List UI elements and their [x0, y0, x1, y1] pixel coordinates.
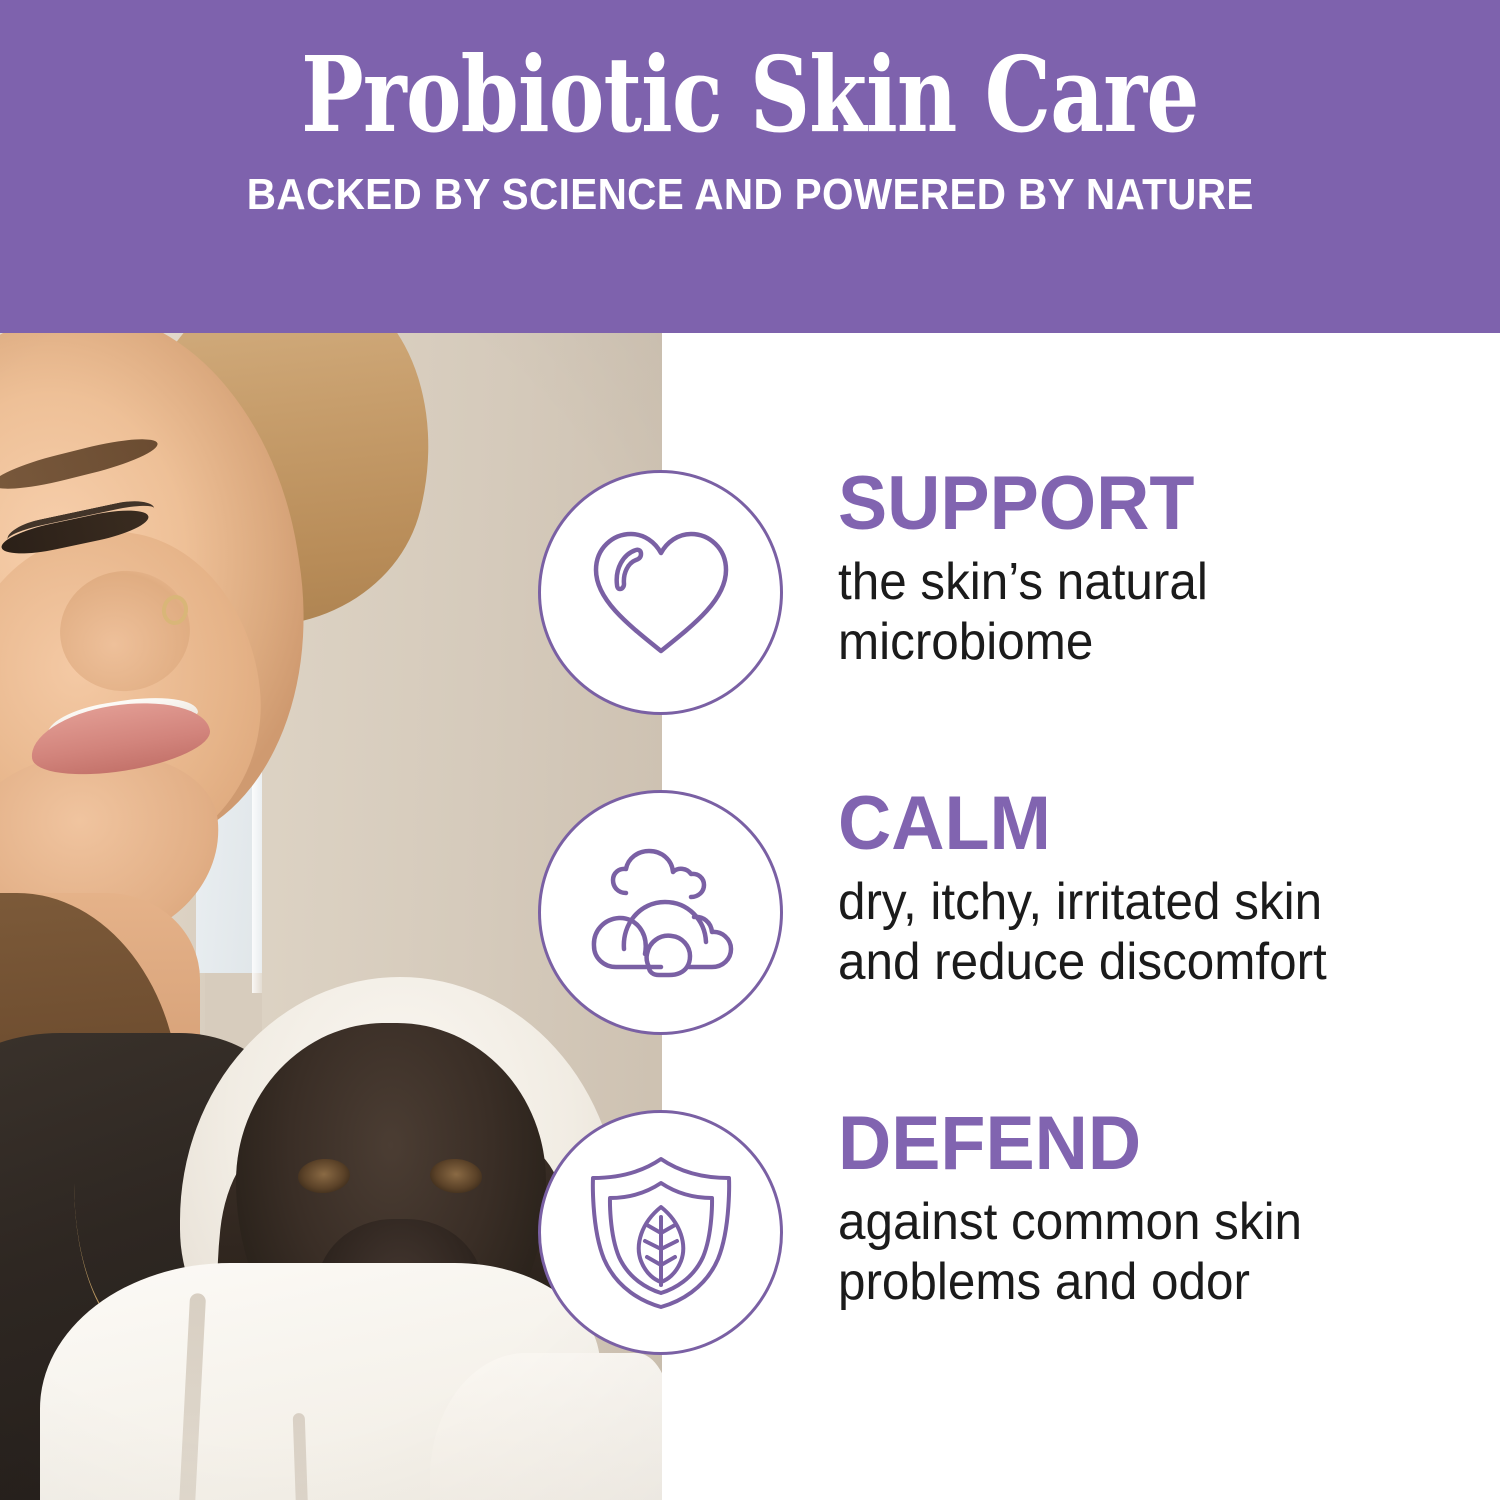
feature-support-text: SUPPORT the skin’s natural microbiome — [838, 466, 1478, 673]
page-subtitle: BACKED BY SCIENCE AND POWERED BY NATURE — [247, 170, 1254, 220]
feature-heading: SUPPORT — [838, 466, 1459, 542]
feature-defend: DEFEND against common skin problems and … — [0, 1110, 1500, 1355]
heart-icon — [538, 470, 783, 715]
infographic-page: Probiotic Skin Care BACKED BY SCIENCE AN… — [0, 0, 1500, 1500]
clouds-icon — [538, 790, 783, 1035]
shield-leaf-icon — [538, 1110, 783, 1355]
feature-calm: CALM dry, itchy, irritated skin and redu… — [0, 790, 1500, 1035]
page-title: Probiotic Skin Care — [301, 42, 1198, 148]
feature-calm-text: CALM dry, itchy, irritated skin and redu… — [838, 786, 1478, 993]
feature-body: dry, itchy, irritated skin and reduce di… — [838, 872, 1446, 993]
feature-body: the skin’s natural microbiome — [838, 552, 1446, 673]
header-banner: Probiotic Skin Care BACKED BY SCIENCE AN… — [0, 0, 1500, 333]
feature-support: SUPPORT the skin’s natural microbiome — [0, 470, 1500, 715]
feature-defend-text: DEFEND against common skin problems and … — [838, 1106, 1478, 1313]
feature-heading: DEFEND — [838, 1106, 1459, 1182]
feature-heading: CALM — [838, 786, 1459, 862]
feature-body: against common skin problems and odor — [838, 1192, 1446, 1313]
